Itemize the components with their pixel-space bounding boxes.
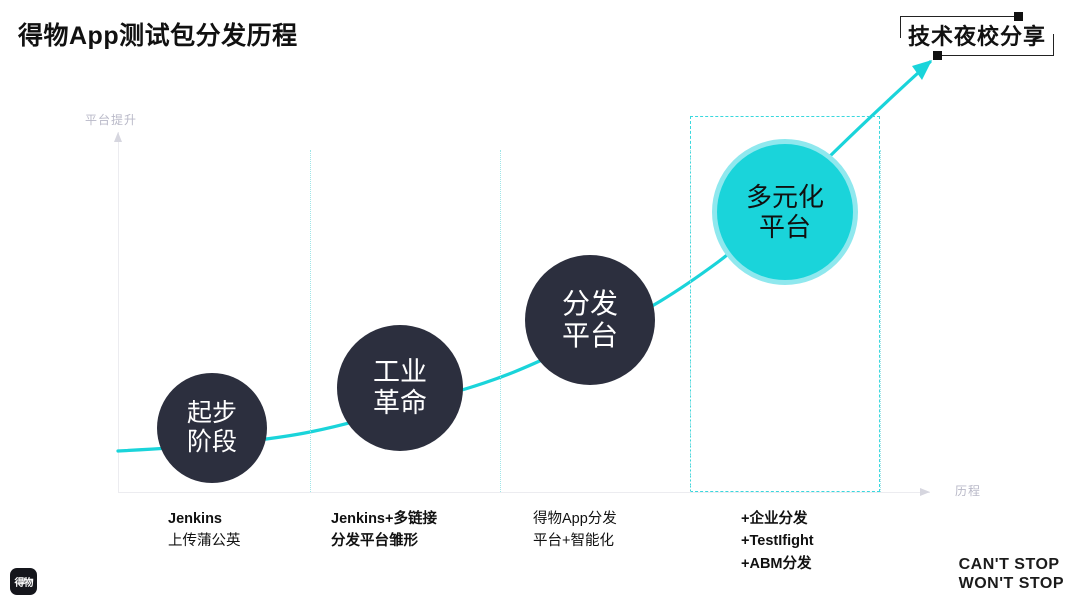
footer-slogan: CAN'T STOP WON'T STOP: [959, 556, 1064, 594]
step-label-3: 得物App分发平台+智能化: [533, 508, 617, 553]
node-circle-1[interactable]: 起步 阶段: [157, 373, 267, 483]
node-label: 工业 革命: [373, 357, 427, 420]
node-circle-2[interactable]: 工业 革命: [337, 325, 463, 451]
node-circle-3[interactable]: 分发 平台: [525, 255, 655, 385]
step-label-line-2: 上传蒲公英: [168, 530, 241, 552]
node-circle-4[interactable]: 多元化 平台: [712, 139, 858, 285]
step-label-line-1: 得物App分发: [533, 508, 617, 530]
step-label-line-2: +TestIfight: [741, 530, 814, 552]
step-label-line-1: +企业分发: [741, 508, 814, 530]
node-label: 多元化 平台: [746, 182, 824, 242]
y-axis-arrow-icon: [114, 132, 122, 142]
slide-canvas: 得物App测试包分发历程 技术夜校分享 平台提升 历程 起步 阶段工业 革命分发…: [0, 0, 1080, 605]
step-label-line-2: 平台+智能化: [533, 530, 617, 552]
step-label-line-3: +ABM分发: [741, 553, 814, 575]
step-label-line-1: Jenkins: [168, 508, 241, 530]
step-label-4: +企业分发+TestIfight+ABM分发: [741, 508, 814, 575]
step-label-1: Jenkins上传蒲公英: [168, 508, 241, 553]
stage-divider-2: [500, 150, 501, 492]
step-label-line-1: Jenkins+多链接: [331, 508, 437, 530]
node-label: 分发 平台: [562, 288, 618, 353]
step-label-2: Jenkins+多链接分发平台雏形: [331, 508, 437, 553]
x-axis-arrow-icon: [920, 488, 930, 496]
stage-divider-4: [880, 150, 881, 492]
brand-logo: 得物: [10, 568, 37, 595]
node-label: 起步 阶段: [187, 399, 237, 457]
stage-divider-1: [310, 150, 311, 492]
timeline-chart: 平台提升 历程 起步 阶段工业 革命分发 平台多元化 平台 Jenkins上传蒲…: [0, 0, 1080, 605]
stage-divider-3: [690, 150, 691, 492]
step-label-line-2: 分发平台雏形: [331, 530, 437, 552]
